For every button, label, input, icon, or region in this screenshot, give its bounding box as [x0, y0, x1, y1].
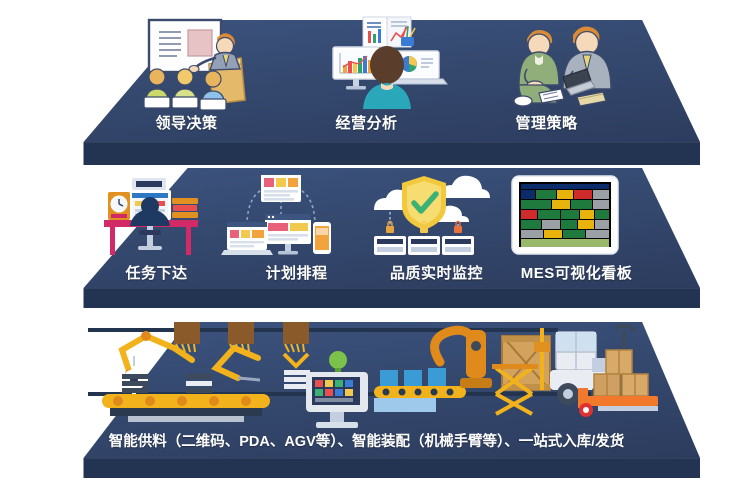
- management-team-icon: [509, 21, 625, 109]
- label-quality-monitoring: 品质实时监控: [367, 262, 507, 283]
- platform-front-face: [0, 142, 733, 165]
- desk-workstation-icon: [96, 170, 206, 256]
- cloud-shield-check-icon: [368, 172, 484, 256]
- production-layer-caption: 智能供料（二维码、PDA、AGV等）、智能装配（机械手臂等）、一站式入库/发货: [0, 430, 733, 451]
- platform-front-face: [0, 458, 733, 478]
- platform-front-face: [0, 288, 733, 308]
- label-business-analysis: 经营分析: [277, 112, 457, 133]
- label-mes-kanban: MES可视化看板: [507, 262, 647, 283]
- execution-layer-labels: 任务下达 计划排程 品质实时监控 MES可视化看板: [0, 262, 733, 283]
- label-leadership-decision: 领导决策: [97, 112, 277, 133]
- diagram-canvas: 领导决策 经营分析 管理策略: [0, 0, 733, 487]
- label-task-dispatch: 任务下达: [87, 262, 227, 283]
- smart-factory-line-icon: [88, 322, 648, 422]
- multi-device-sync-icon: [225, 170, 337, 256]
- presentation-meeting-icon: [133, 18, 253, 110]
- label-plan-scheduling: 计划排程: [227, 262, 367, 283]
- label-management-strategy: 管理策略: [457, 112, 637, 133]
- data-analysis-icon: [333, 17, 443, 111]
- tablet-kanban-board-icon: [512, 176, 618, 254]
- decision-layer-labels: 领导决策 经营分析 管理策略: [0, 112, 733, 133]
